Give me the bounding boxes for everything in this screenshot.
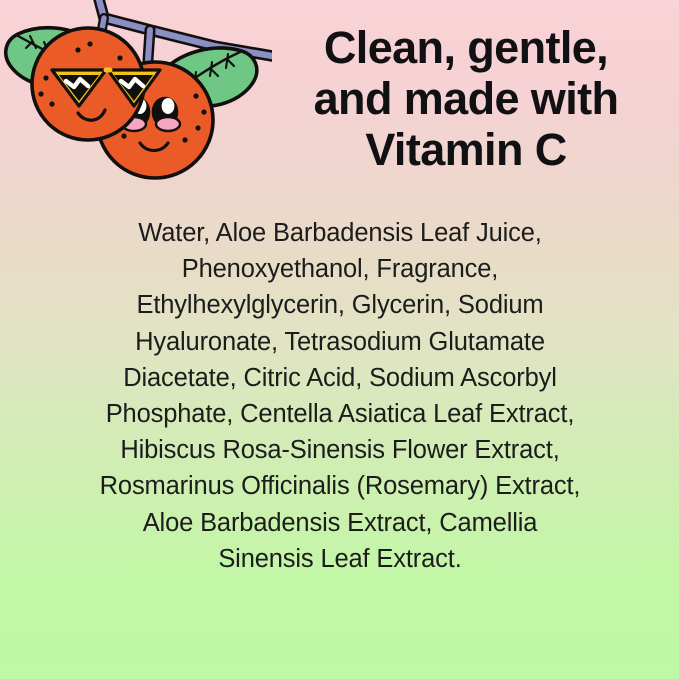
ingredients-line-8: Rosmarinus Officinalis (Rosemary) Extrac… [56, 468, 624, 504]
eyes-icon-right [125, 98, 177, 126]
two-oranges-illustration [0, 0, 272, 205]
product-ingredient-card: Clean, gentle, and made with Vitamin C W… [0, 0, 679, 679]
orange-fruit-right [97, 62, 213, 178]
ingredients-line-2: Phenoxyethanol, Fragrance, [56, 251, 624, 287]
ingredients-line-1: Water, Aloe Barbadensis Leaf Juice, [56, 215, 624, 251]
ingredients-line-6: Phosphate, Centella Asiatica Leaf Extrac… [56, 396, 624, 432]
sunglasses-icon [52, 70, 160, 106]
ingredients-line-9: Aloe Barbadensis Extract, Camellia [56, 505, 624, 541]
headline-line-2: and made with [268, 73, 664, 124]
ingredients-line-7: Hibiscus Rosa-Sinensis Flower Extract, [56, 432, 624, 468]
leaf-icon-left [6, 28, 95, 88]
branch-icon [96, 0, 272, 60]
orange-fruit-left [32, 28, 160, 140]
headline-line-3: Vitamin C [268, 124, 664, 175]
headline-line-1: Clean, gentle, [268, 22, 664, 73]
ingredients-list: Water, Aloe Barbadensis Leaf Juice, Phen… [56, 215, 624, 577]
blush-icon-right [122, 117, 180, 131]
ingredients-line-5: Diacetate, Citric Acid, Sodium Ascorbyl [56, 360, 624, 396]
leaf-icon-right [164, 48, 257, 106]
headline-title: Clean, gentle, and made with Vitamin C [268, 22, 664, 175]
ingredients-line-4: Hyaluronate, Tetrasodium Glutamate [56, 324, 624, 360]
ingredients-line-10: Sinensis Leaf Extract. [56, 541, 624, 577]
ingredients-line-3: Ethylhexylglycerin, Glycerin, Sodium [56, 287, 624, 323]
